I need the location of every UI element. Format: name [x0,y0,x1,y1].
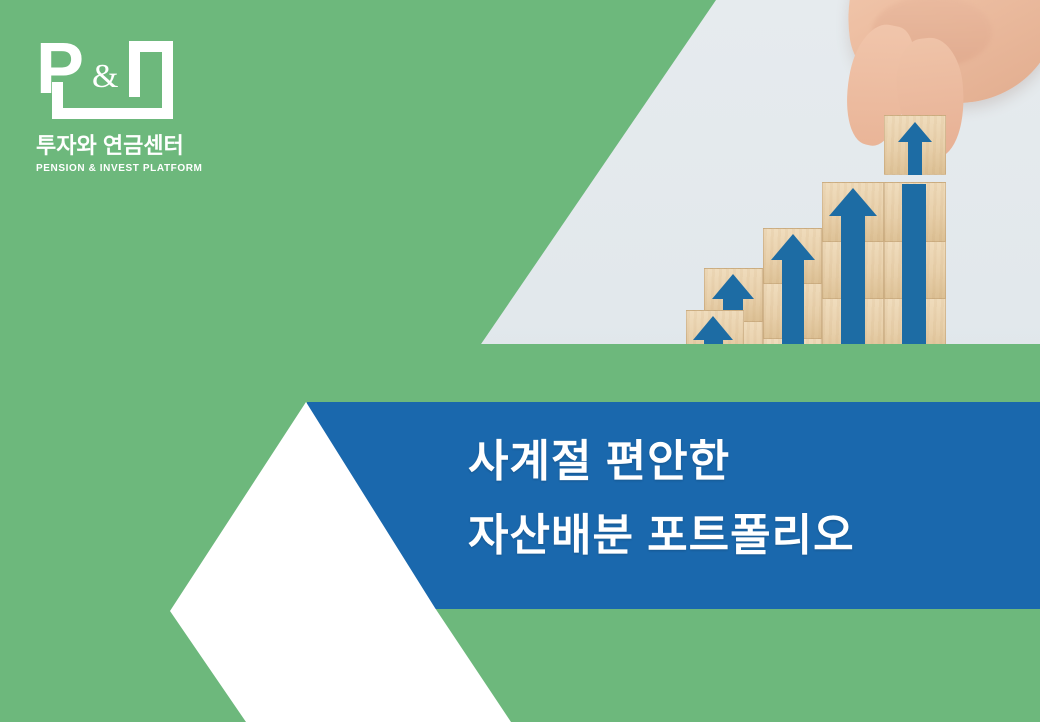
page-title: 사계절 편안한 자산배분 포트폴리오 [468,425,1028,573]
logo-bracket-left [52,82,63,119]
brand-logo[interactable]: P & 투자와 연금센터 PENSION & INVEST PLATFORM [36,38,226,174]
logo-korean-name: 투자와 연금센터 [36,128,226,160]
title-line-1: 사계절 편안한 [468,425,1028,499]
logo-english-name: PENSION & INVEST PLATFORM [36,163,226,174]
logo-mark: P & [36,38,186,116]
poster-canvas: 사계절 편안한 자산배분 포트폴리오 P & 투자와 연금센터 PENSION … [0,0,1040,722]
logo-ampersand: & [92,60,118,94]
title-line-2: 자산배분 포트폴리오 [468,499,1028,573]
logo-bracket-bottom [52,108,173,119]
